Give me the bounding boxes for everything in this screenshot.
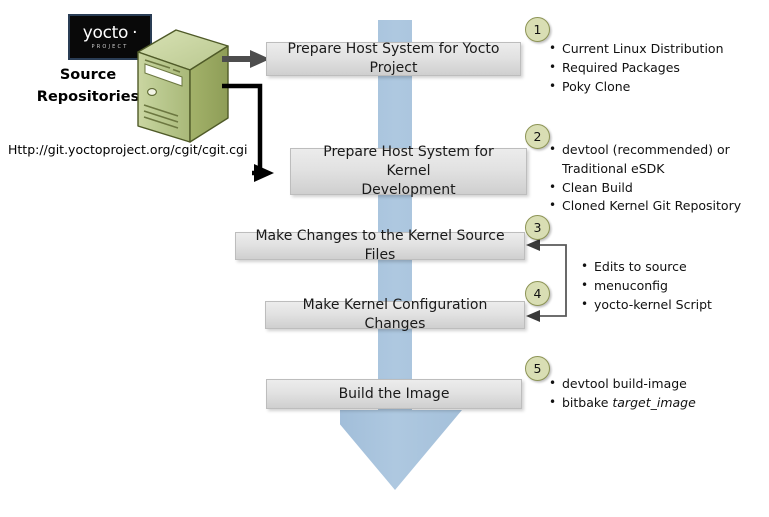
process-box-step-2[interactable]: Prepare Host System for Kernel Developme… [290,148,527,195]
step-number-1-text: 1 [534,22,542,37]
bullet-item: Poky Clone [549,78,724,97]
diagram-canvas: yocto· PROJECT Source Repositories Http:… [0,0,769,517]
step-number-5-text: 5 [534,361,542,376]
process-box-step-4-label: Make Kernel Configuration Changes [276,296,514,334]
bullet-item: yocto-kernel Script [581,296,712,315]
process-box-step-1[interactable]: Prepare Host System for Yocto Project [266,42,521,76]
bullets-step-1: Current Linux Distribution Required Pack… [549,40,724,96]
process-box-step-3[interactable]: Make Changes to the Kernel Source Files [235,232,525,260]
bullet-item: Current Linux Distribution [549,40,724,59]
process-box-step-1-label: Prepare Host System for Yocto Project [277,40,510,78]
server-icon [130,26,234,148]
bullet-item: bitbake target_image [549,394,696,413]
bullet-item: Cloned Kernel Git Repository [549,197,741,216]
step-number-2-text: 2 [534,129,542,144]
process-box-step-2-label-line-2: Development [361,181,455,200]
step-number-3: 3 [525,215,550,240]
bullets-step-2: devtool (recommended) or Traditional eSD… [549,141,741,216]
step-number-1: 1 [525,17,550,42]
bullet-item: devtool build-image [549,375,696,394]
step-number-4-text: 4 [534,286,542,301]
bullets-steps-3-4: Edits to source menuconfig yocto-kernel … [581,258,712,314]
bullet-item: menuconfig [581,277,712,296]
step-number-5: 5 [525,356,550,381]
process-box-step-5-label: Build the Image [339,385,450,404]
process-box-step-2-label-line-1: Prepare Host System for Kernel [301,143,516,181]
step-number-3-text: 3 [534,220,542,235]
process-box-step-3-label: Make Changes to the Kernel Source Files [246,227,514,265]
process-box-step-4[interactable]: Make Kernel Configuration Changes [265,301,525,329]
step-number-2: 2 [525,124,550,149]
bullet-item: Edits to source [581,258,712,277]
process-box-step-5[interactable]: Build the Image [266,379,522,409]
step-number-4: 4 [525,281,550,306]
logo-subtext: PROJECT [91,45,128,50]
bullets-step-5: devtool build-image bitbake target_image [549,375,696,413]
bullet-item: devtool (recommended) or Traditional eSD… [549,141,741,179]
bullet-item: Required Packages [549,59,724,78]
bullet-item: Clean Build [549,179,741,198]
